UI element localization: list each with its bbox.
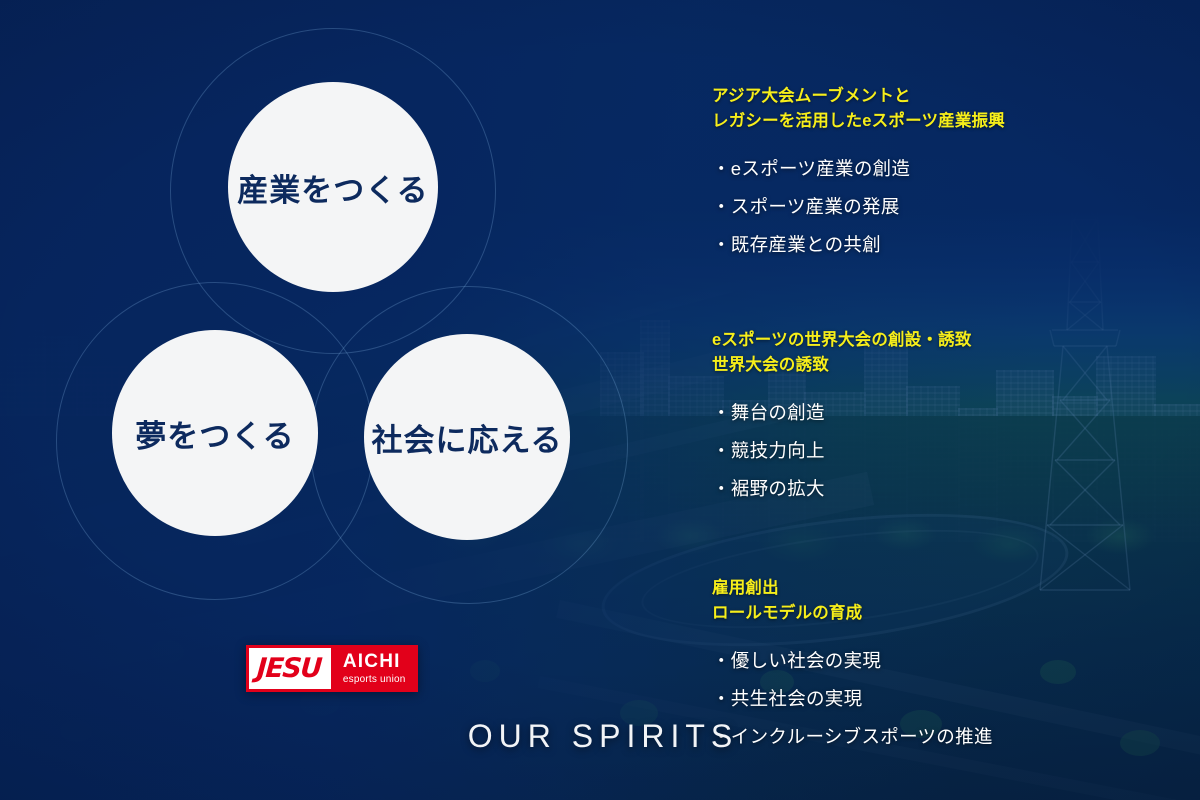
pillar-heading-line2: レガシーを活用したeスポーツ産業振興 [712, 109, 1182, 134]
bullet-item: ・優しい社会の実現 [712, 642, 1182, 680]
pillar-text-industry: アジア大会ムーブメントと レガシーを活用したeスポーツ産業振興 ・eスポーツ産業… [712, 84, 1182, 264]
pillar-heading-line2: 世界大会の誘致 [712, 353, 1182, 378]
jesu-aichi-logo: JESU AICHI esports union [246, 645, 418, 692]
bullet-item: ・共生社会の実現 [712, 680, 1182, 718]
circle-society[interactable]: 社会に応える [364, 334, 570, 540]
jesu-wordmark: JESU [256, 653, 322, 684]
aichi-subtitle: esports union [343, 673, 406, 686]
pillar-heading-line2: ロールモデルの育成 [712, 601, 1182, 626]
pillar-heading-line1: 雇用創出 [712, 576, 1182, 601]
circle-industry[interactable]: 産業をつくる [228, 82, 438, 292]
pillar-heading: アジア大会ムーブメントと レガシーを活用したeスポーツ産業振興 [712, 84, 1182, 134]
pillar-heading: 雇用創出 ロールモデルの育成 [712, 576, 1182, 626]
circle-dream-label: 夢をつくる [135, 411, 294, 456]
pillar-text-dream: eスポーツの世界大会の創設・誘致 世界大会の誘致 ・舞台の創造 ・競技力向上 ・… [712, 328, 1182, 508]
bullet-item: ・舞台の創造 [712, 394, 1182, 432]
tagline-text: OUR SPIRITS [462, 718, 738, 755]
bullet-item: ・裾野の拡大 [712, 470, 1182, 508]
three-pillar-circles: 産業をつくる 夢をつくる 社会に応える [0, 0, 660, 620]
pillar-bullet-list: ・舞台の創造 ・競技力向上 ・裾野の拡大 [712, 394, 1182, 508]
pillar-heading: eスポーツの世界大会の創設・誘致 世界大会の誘致 [712, 328, 1182, 378]
pillar-heading-line1: eスポーツの世界大会の創設・誘致 [712, 328, 1182, 353]
circle-society-label: 社会に応える [371, 415, 562, 460]
bullet-item: ・既存産業との共創 [712, 226, 1182, 264]
pillar-bullet-list: ・eスポーツ産業の創造 ・スポーツ産業の発展 ・既存産業との共創 [712, 150, 1182, 264]
circle-dream[interactable]: 夢をつくる [112, 330, 318, 536]
slide-canvas: 産業をつくる 夢をつくる 社会に応える アジア大会ムーブメントと レガシーを活用… [0, 0, 1200, 800]
bullet-item: ・競技力向上 [712, 432, 1182, 470]
aichi-logo-block: AICHI esports union [331, 645, 418, 692]
circle-industry-label: 産業をつくる [237, 165, 428, 210]
aichi-wordmark: AICHI [343, 652, 406, 671]
pillar-heading-line1: アジア大会ムーブメントと [712, 84, 1182, 109]
bullet-item: ・スポーツ産業の発展 [712, 188, 1182, 226]
jesu-logo-block: JESU [246, 645, 331, 692]
tagline: OUR SPIRITS [0, 718, 1200, 755]
bullet-item: ・eスポーツ産業の創造 [712, 150, 1182, 188]
